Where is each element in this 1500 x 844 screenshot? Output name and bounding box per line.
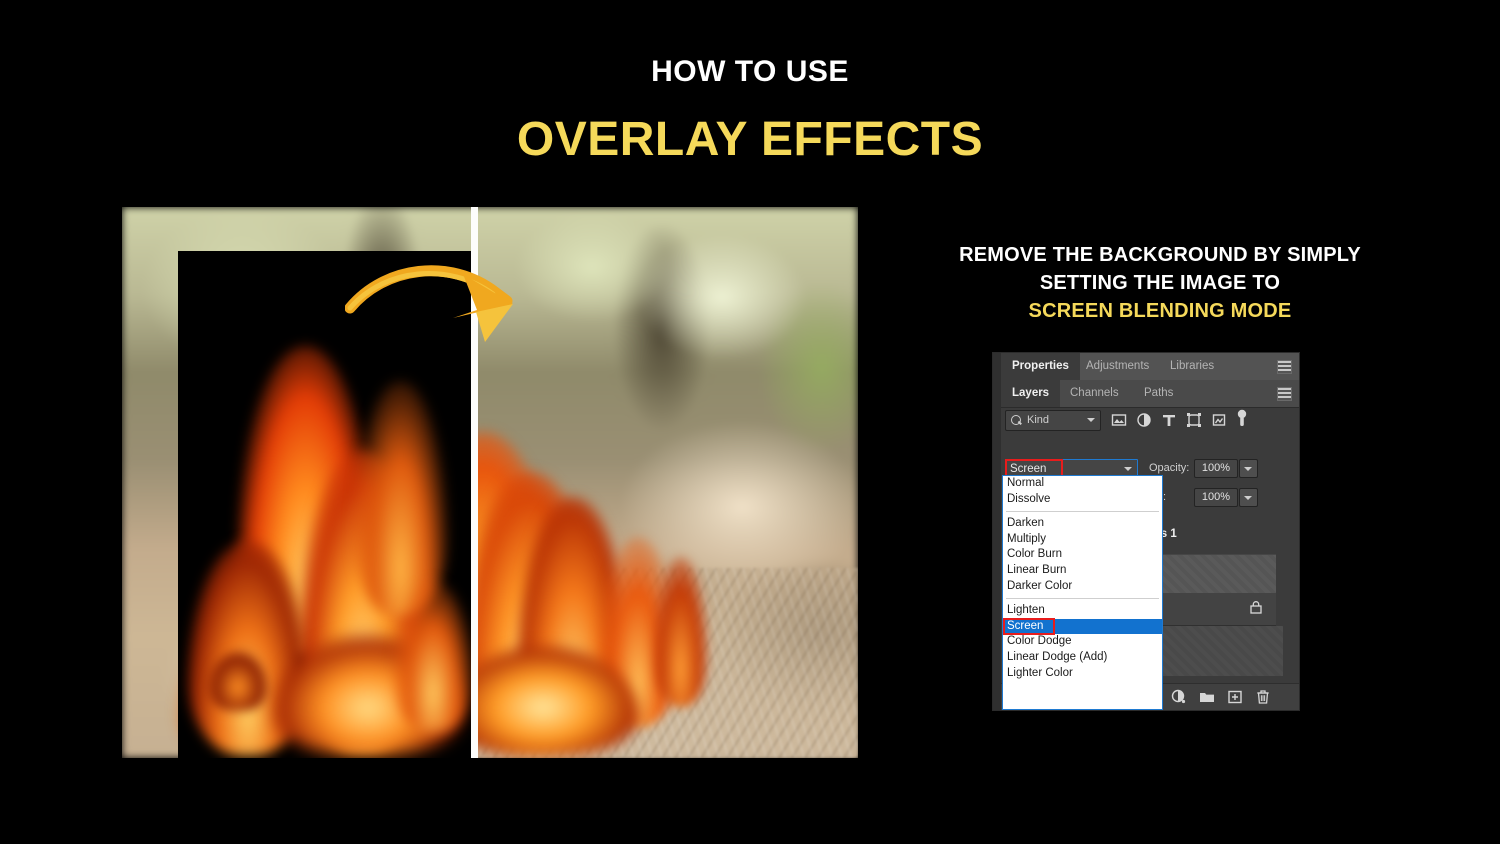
dropdown-selection-highlight-box xyxy=(1003,618,1055,635)
filter-type-layers-icon[interactable] xyxy=(1161,412,1177,428)
caption-line-2: SETTING THE IMAGE TO xyxy=(930,269,1390,297)
filter-shape-layers-icon[interactable] xyxy=(1186,412,1202,428)
tab-libraries[interactable]: Libraries xyxy=(1159,353,1225,380)
tab-paths[interactable]: Paths xyxy=(1133,380,1184,407)
dropdown-item-screen[interactable]: Screen xyxy=(1003,619,1162,635)
tab-adjustments[interactable]: Adjustments xyxy=(1075,353,1160,380)
dropdown-item-normal[interactable]: Normal xyxy=(1003,476,1162,492)
fill-value[interactable]: 100% xyxy=(1194,488,1238,507)
filter-toggle-switch[interactable] xyxy=(1237,409,1247,429)
chevron-down-icon xyxy=(1087,418,1095,422)
filter-kind-select[interactable]: Kind xyxy=(1005,410,1101,431)
new-layer-icon[interactable] xyxy=(1227,689,1243,705)
slide-canvas: HOW TO USE OVERLAY EFFECTS xyxy=(0,0,1500,844)
dropdown-separator xyxy=(1006,598,1159,599)
caption-line-3: SCREEN BLENDING MODE xyxy=(930,297,1390,325)
search-icon xyxy=(1011,415,1021,425)
tab-properties[interactable]: Properties xyxy=(1001,353,1080,380)
filter-pixel-layers-icon[interactable] xyxy=(1111,412,1127,428)
new-adjustment-layer-icon[interactable] xyxy=(1171,689,1187,705)
tab-layers[interactable]: Layers xyxy=(1001,380,1060,407)
new-group-folder-icon[interactable] xyxy=(1199,689,1215,705)
tab-channels[interactable]: Channels xyxy=(1059,380,1130,407)
layers-panel-menu-icon[interactable] xyxy=(1277,387,1292,401)
caption-line-1: REMOVE THE BACKGROUND BY SIMPLY xyxy=(930,241,1390,269)
dropdown-item-lighter-color[interactable]: Lighter Color xyxy=(1003,666,1162,682)
panel-left-edge xyxy=(993,353,1001,710)
curved-arrow-icon xyxy=(345,248,575,343)
delete-layer-trash-icon[interactable] xyxy=(1255,689,1271,705)
dropdown-item-multiply[interactable]: Multiply xyxy=(1003,532,1162,548)
opacity-stepper[interactable] xyxy=(1239,459,1258,478)
filter-smart-objects-icon[interactable] xyxy=(1211,412,1227,428)
page-title-secondary: OVERLAY EFFECTS xyxy=(0,112,1500,167)
dropdown-item-linear-dodge-add[interactable]: Linear Dodge (Add) xyxy=(1003,650,1162,666)
dropdown-item-darker-color[interactable]: Darker Color xyxy=(1003,579,1162,595)
opacity-value[interactable]: 100% xyxy=(1194,459,1238,478)
filter-kind-label: Kind xyxy=(1027,411,1049,430)
dropdown-item-darken[interactable]: Darken xyxy=(1003,516,1162,532)
blend-mode-dropdown[interactable]: NormalDissolveDarkenMultiplyColor BurnLi… xyxy=(1002,475,1163,710)
page-title-primary: HOW TO USE xyxy=(0,55,1500,89)
dropdown-item-color-dodge[interactable]: Color Dodge xyxy=(1003,634,1162,650)
filter-adjustment-layers-icon[interactable] xyxy=(1136,412,1152,428)
dropdown-item-dissolve[interactable]: Dissolve xyxy=(1003,492,1162,508)
panel-menu-icon[interactable] xyxy=(1277,360,1292,374)
lock-icon[interactable] xyxy=(1250,601,1262,614)
panel-tabs-row-layers: Layers Channels Paths xyxy=(1001,380,1299,408)
dropdown-item-linear-burn[interactable]: Linear Burn xyxy=(1003,563,1162,579)
dropdown-item-lighten[interactable]: Lighten xyxy=(1003,603,1162,619)
fill-stepper[interactable] xyxy=(1239,488,1258,507)
opacity-label: Opacity: xyxy=(1149,462,1189,474)
dropdown-item-color-burn[interactable]: Color Burn xyxy=(1003,547,1162,563)
layer-filter-row: Kind xyxy=(1001,407,1299,433)
instruction-caption: REMOVE THE BACKGROUND BY SIMPLY SETTING … xyxy=(930,241,1390,325)
panel-tabs-row-properties: Properties Adjustments Libraries xyxy=(1001,353,1299,381)
dropdown-separator xyxy=(1006,511,1159,512)
chevron-down-icon xyxy=(1124,467,1132,471)
